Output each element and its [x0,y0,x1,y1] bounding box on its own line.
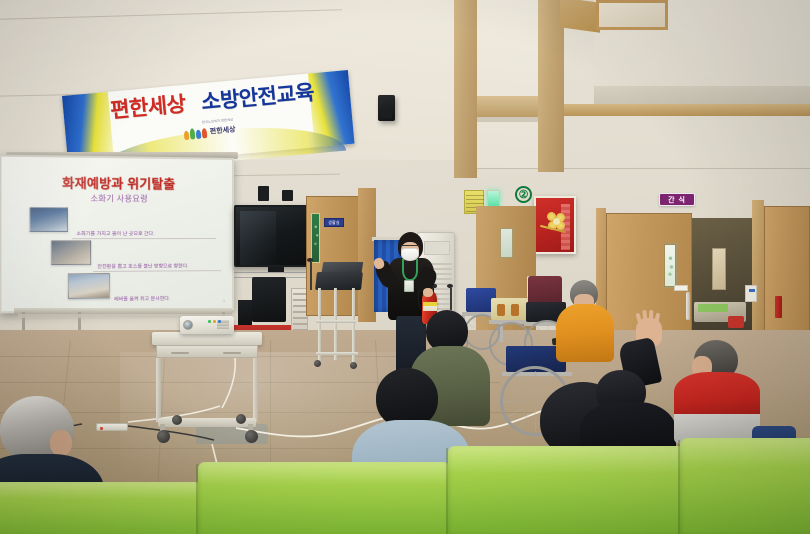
slide-step-2: 안전핀을 뽑고 호스를 불난 방향으로 향한다. [97,262,188,270]
projector-lens [183,320,193,330]
microphone-stand [310,262,312,290]
bed-rail [698,304,728,312]
interior-panel [712,248,726,290]
presenter-right-hand [423,288,433,297]
podium-caster [350,362,357,369]
door-sign-purple-right-text: 간 식 [668,195,686,205]
sofa-right[interactable] [680,438,810,534]
upper-window [596,0,668,30]
microphone-stand [450,288,452,310]
microphone [307,258,313,262]
av-speaker-stack [252,277,286,322]
cart-caster [172,415,182,425]
slide-page-number: 1 [223,299,225,303]
orange-sweater [556,304,614,362]
projector [180,316,234,334]
sliding-door-handle[interactable] [686,292,690,320]
cart-caster [157,430,170,443]
cart-drawer[interactable] [156,345,258,358]
wall-fire-extinguisher [775,296,782,318]
cart-caster [245,430,258,443]
door-window [500,228,513,258]
slide-divider [72,238,216,239]
wall-artwork-panel [534,196,576,254]
podium-surface [315,272,363,290]
id-badge [404,280,414,292]
door-green-banner [311,213,320,263]
sofa-left[interactable] [0,482,202,534]
small-speaker [282,190,293,201]
wooden-beam-cross [477,96,538,117]
slide-step-3: 레버를 움켜 쥐고 분사한다. [114,295,170,303]
projection-screen: 화재예방과 위기탈출 소화기 사용요령 소화기를 가지고 불이 난 곳으로 간다… [0,154,234,313]
slide-divider [93,270,221,272]
wooden-beam [454,0,477,178]
ceiling-edge [594,86,810,104]
door-sign-blue: 생활실 [324,218,344,227]
sofa-right-center[interactable] [448,446,686,534]
slide-image-1 [30,207,68,232]
door-sign-blue-text: 생활실 [328,220,340,226]
red-bin [728,316,744,328]
extinguisher-label-band [423,302,437,306]
banner-logo-text: 편한세상 [210,126,236,135]
beam-shadow [477,117,538,122]
logo-figures-icon [183,127,207,140]
wall-seam [455,168,810,169]
wall-switch-box[interactable] [745,285,757,302]
podium-caster [314,360,321,367]
sofa-center[interactable] [198,462,450,534]
cart-caster [236,414,246,424]
door-label-tag [674,285,688,291]
emergency-exit-sign [487,190,500,207]
wooden-ledge [564,104,810,116]
photo-scene: 편한세상 소방안전교육 한국노인복지 편한세상 편한세상 화재예방과 위기탈출 … [0,0,810,534]
wooden-beam [560,0,600,33]
slide-step-1: 소화기를 가지고 불이 난 곳으로 간다. [76,230,154,237]
ear-face [50,430,72,456]
screen-surface: 화재예방과 위기탈출 소화기 사용요령 소화기를 가지고 불이 난 곳으로 간다… [0,154,234,313]
door-window-decal [664,244,676,287]
slide-subtitle: 소화기 사용요령 [1,192,232,205]
lanyard [402,259,418,281]
door-sign-purple-right: 간 식 [659,193,695,206]
small-speaker [258,186,269,201]
tv-glare [240,211,276,265]
dark-hair [376,368,438,428]
slide-title: 화재예방과 위기탈출 [1,171,232,193]
subwoofer [238,300,252,326]
slide-image-2 [51,240,91,265]
speaker-grille [381,110,392,118]
microphone [447,284,453,288]
slide-image-3 [68,273,110,299]
room-number-marker: ② [515,186,532,203]
